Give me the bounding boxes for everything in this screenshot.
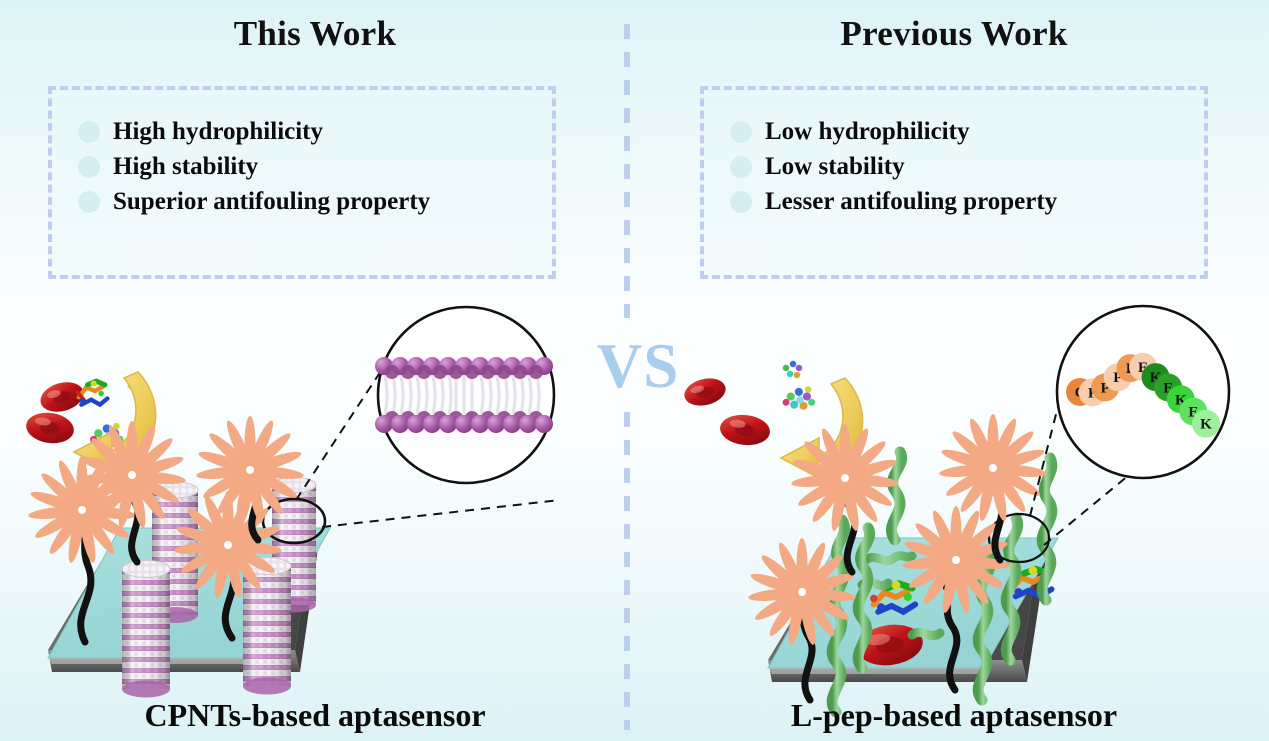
protein-icon	[78, 381, 108, 405]
list-item: Low hydrophilicity	[730, 118, 1057, 146]
repelled-foulants-right	[681, 361, 815, 448]
inset-cpnt-cross-section	[375, 307, 554, 483]
bullet-dot-icon	[78, 121, 100, 143]
feature-box-left: High hydrophilicity High stability Super…	[48, 86, 556, 279]
list-item: Low stability	[730, 153, 1057, 181]
feature-label: Superior antifouling property	[113, 188, 430, 216]
caption-left: CPNTs-based aptasensor	[0, 697, 630, 734]
aptamer-flower-icon	[939, 414, 1048, 522]
feature-label: High hydrophilicity	[113, 118, 323, 146]
list-item: High hydrophilicity	[78, 118, 430, 146]
cpnt-nanotube	[122, 561, 170, 698]
feature-label: Lesser antifouling property	[765, 188, 1057, 216]
feature-list-left: High hydrophilicity High stability Super…	[78, 118, 430, 223]
peptide-residue-letter: K	[1200, 417, 1212, 433]
bullet-dot-icon	[78, 156, 100, 178]
red-blood-cell-icon	[24, 410, 76, 446]
page-title-right: Previous Work	[639, 14, 1269, 54]
protein-icon	[783, 386, 815, 409]
caption-right: L-pep-based aptasensor	[639, 697, 1269, 734]
figure-canvas: CPPPPEKEKEK This Work Previous Work High…	[0, 0, 1269, 741]
bullet-dot-icon	[730, 191, 752, 213]
protein-icon	[783, 361, 803, 379]
list-item: Lesser antifouling property	[730, 188, 1057, 216]
feature-label: Low stability	[765, 153, 905, 181]
versus-label: VS	[578, 330, 698, 403]
feature-label: High stability	[113, 153, 258, 181]
page-title-left: This Work	[0, 14, 630, 54]
bullet-dot-icon	[730, 121, 752, 143]
feature-label: Low hydrophilicity	[765, 118, 969, 146]
list-item: High stability	[78, 153, 430, 181]
inset-linear-peptide: CPPPPEKEKEK	[1057, 306, 1229, 478]
bullet-dot-icon	[78, 191, 100, 213]
red-blood-cell-icon	[719, 412, 772, 447]
left-panel-illustration	[24, 307, 560, 698]
feature-box-right: Low hydrophilicity Low stability Lesser …	[700, 86, 1208, 279]
right-panel-illustration: CPPPPEKEKEK	[681, 306, 1229, 712]
bullet-dot-icon	[730, 156, 752, 178]
feature-list-right: Low hydrophilicity Low stability Lesser …	[730, 118, 1057, 223]
list-item: Superior antifouling property	[78, 188, 430, 216]
